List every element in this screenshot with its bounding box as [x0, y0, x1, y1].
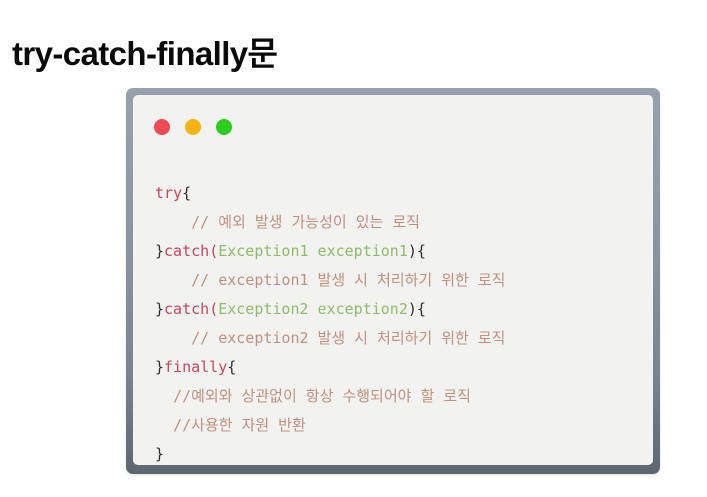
- code-block: try{ // 예외 발생 가능성이 있는 로직}catch(Exception…: [155, 179, 645, 465]
- minimize-button-icon[interactable]: [185, 119, 201, 135]
- code-token-punct: {: [227, 358, 236, 376]
- code-token-punct: {: [182, 184, 191, 202]
- code-line: try{: [155, 179, 645, 208]
- code-token-type: Exception1 exception1: [218, 242, 408, 260]
- code-line: }: [155, 440, 645, 465]
- code-token-plain: [155, 329, 191, 347]
- code-token-comment: //예외와 상관없이 항상 수행되어야 할 로직: [173, 387, 471, 405]
- code-window: try{ // 예외 발생 가능성이 있는 로직}catch(Exception…: [126, 88, 660, 474]
- code-token-punct: }: [155, 242, 164, 260]
- code-line: //사용한 자원 반환: [155, 411, 645, 440]
- code-token-plain: [155, 387, 173, 405]
- code-line: //예외와 상관없이 항상 수행되어야 할 로직: [155, 382, 645, 411]
- code-line: // exception1 발생 시 처리하기 위한 로직: [155, 266, 645, 295]
- code-token-comment: // 예외 발생 가능성이 있는 로직: [191, 213, 420, 231]
- code-token-keyword: catch: [164, 242, 209, 260]
- code-token-paren: (: [209, 300, 218, 318]
- page-title: try-catch-finally문: [12, 36, 277, 72]
- code-line: }catch(Exception1 exception1){: [155, 237, 645, 266]
- code-token-punct: {: [417, 300, 426, 318]
- code-token-comment: //사용한 자원 반환: [173, 416, 306, 434]
- code-token-comment: // exception2 발생 시 처리하기 위한 로직: [191, 329, 505, 347]
- code-token-punct: }: [155, 300, 164, 318]
- code-token-keyword: try: [155, 184, 182, 202]
- code-token-keyword: catch: [164, 300, 209, 318]
- window-traffic-lights: [154, 119, 232, 135]
- code-token-punct: }: [155, 445, 164, 463]
- code-token-punct: {: [417, 242, 426, 260]
- maximize-button-icon[interactable]: [216, 119, 232, 135]
- code-token-type: Exception2 exception2: [218, 300, 408, 318]
- close-button-icon[interactable]: [154, 119, 170, 135]
- code-line: // exception2 발생 시 처리하기 위한 로직: [155, 324, 645, 353]
- code-token-plain: [155, 213, 191, 231]
- code-token-paren-dark: ): [408, 242, 417, 260]
- code-token-plain: [155, 271, 191, 289]
- code-token-comment: // exception1 발생 시 처리하기 위한 로직: [191, 271, 505, 289]
- code-token-plain: [155, 416, 173, 434]
- code-line: // 예외 발생 가능성이 있는 로직: [155, 208, 645, 237]
- code-window-surface: try{ // 예외 발생 가능성이 있는 로직}catch(Exception…: [133, 95, 653, 465]
- code-token-punct: }: [155, 358, 164, 376]
- code-line: }catch(Exception2 exception2){: [155, 295, 645, 324]
- code-token-paren-dark: ): [408, 300, 417, 318]
- code-token-paren: (: [209, 242, 218, 260]
- code-line: }finally{: [155, 353, 645, 382]
- code-token-keyword: finally: [164, 358, 227, 376]
